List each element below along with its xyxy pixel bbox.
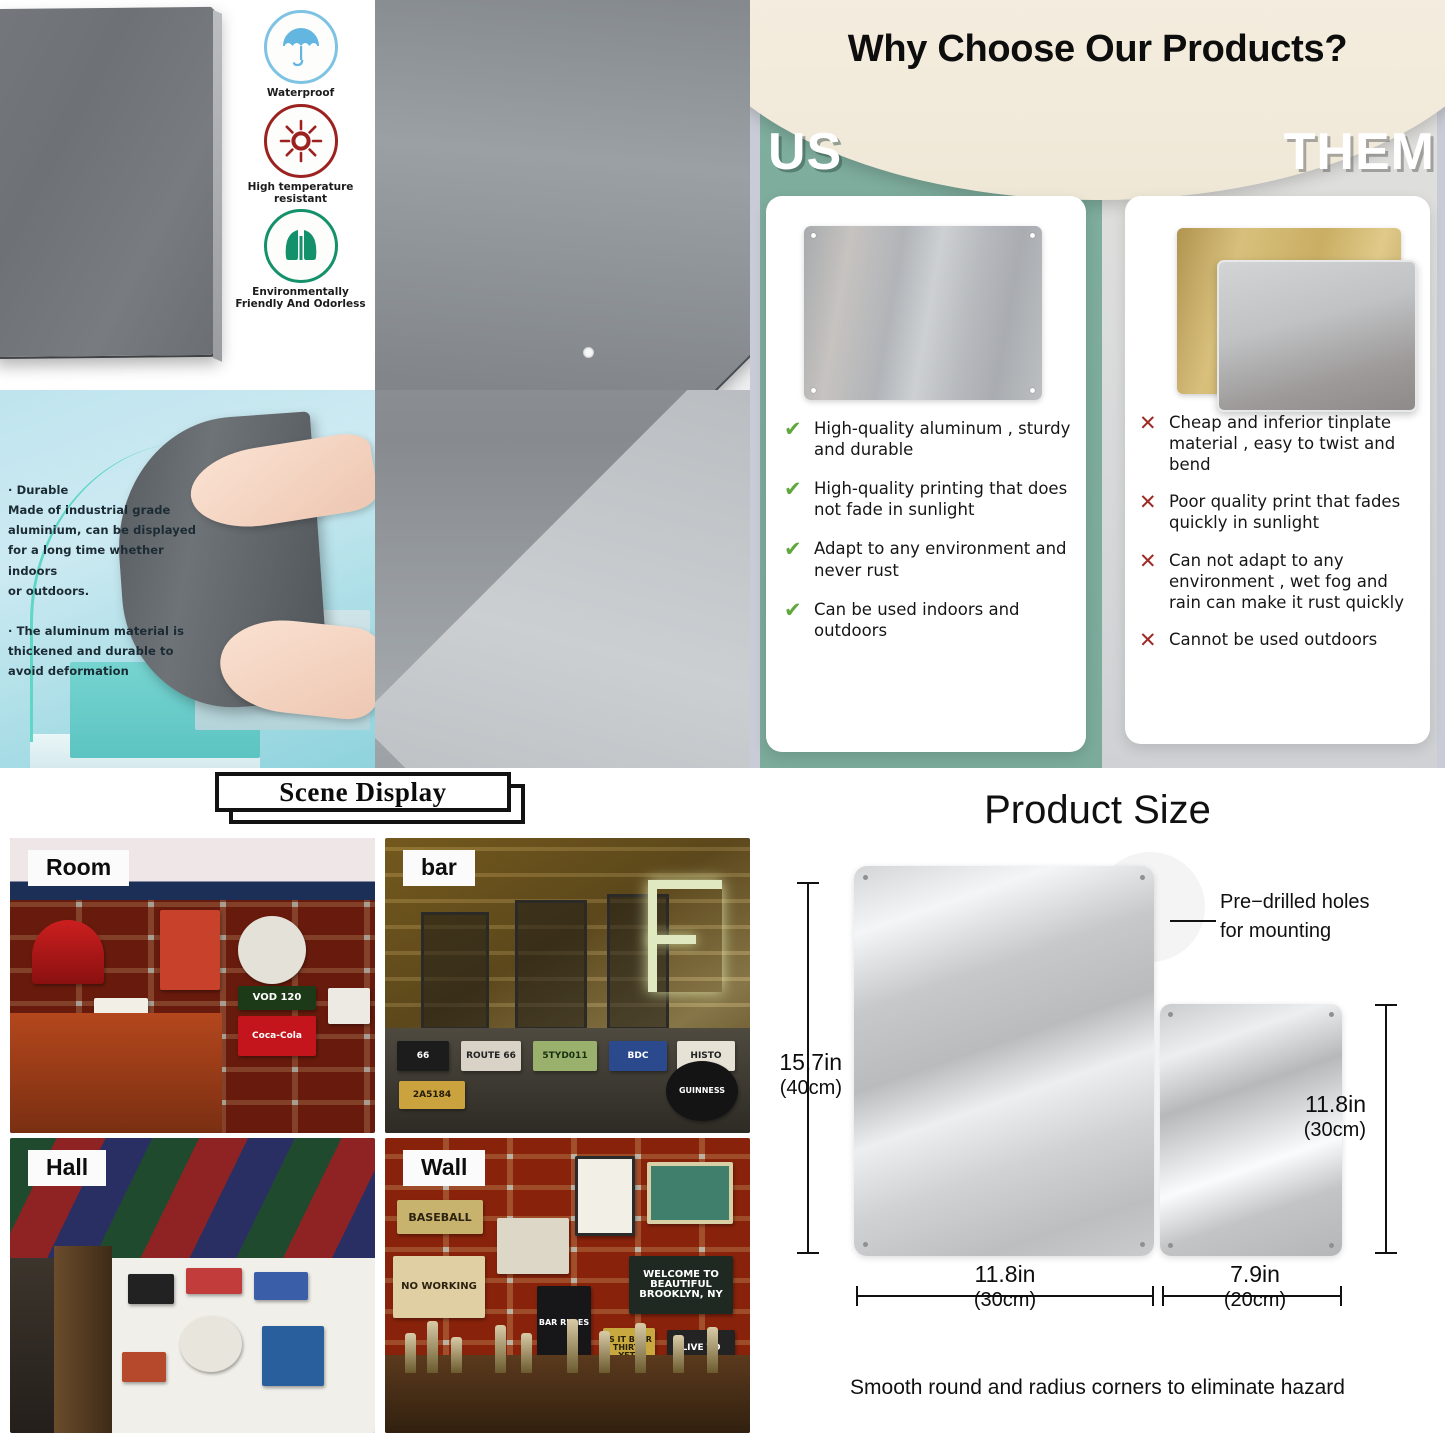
durability-panel: · Durable Made of industrial grade alumi…	[0, 390, 750, 768]
decor-sign	[647, 1162, 733, 1224]
feature-icon-column: Waterproof	[226, 0, 375, 390]
durability-bullet1-body: Made of industrial grade aluminium, can …	[8, 500, 213, 601]
us-point-text: High-quality aluminum , sturdy and durab…	[814, 418, 1074, 460]
decor-sign	[186, 1268, 242, 1294]
decor-sign	[328, 988, 370, 1024]
cross-icon: ✕	[1139, 629, 1169, 651]
room-desk	[10, 1013, 222, 1133]
infographic-page: Waterproof	[0, 0, 1445, 1445]
scene-tag-bar: bar	[403, 850, 475, 886]
sign-bar-rules: BAR RULES	[537, 1286, 591, 1360]
them-silver-plate-image	[1217, 260, 1417, 412]
us-label: US	[768, 122, 842, 182]
sign-guinness: GUINNESS	[666, 1061, 738, 1121]
sign-plate: 66	[397, 1041, 449, 1071]
scene-tag-room: Room	[28, 850, 129, 886]
mounting-hole	[583, 347, 594, 358]
list-item: ✕ Cheap and inferior tinplate material ,…	[1139, 412, 1424, 475]
neon-f-letter	[648, 880, 722, 992]
sign-vod120: VOD 120	[238, 986, 316, 1010]
list-item: ✕ Can not adapt to any environment , wet…	[1139, 550, 1424, 613]
sign-welcome-brooklyn: WELCOME TO BEAUTIFUL BROOKLYN, NY	[629, 1256, 733, 1314]
scene-grid: VOD 120 Coca-Cola Room 66 ROUTE 66 5TYD0…	[10, 838, 745, 1438]
list-item: ✔ High-quality aluminum , sturdy and dur…	[784, 418, 1074, 460]
check-icon: ✔	[784, 599, 814, 621]
durability-bullet1-title: · Durable	[8, 480, 213, 500]
decor-sign	[160, 910, 220, 990]
scene-cell-bar: 66 ROUTE 66 5TYD011 BDC HISTO 2A5184 GUI…	[385, 838, 750, 1133]
decor-sign	[32, 920, 104, 984]
aluminum-plate-image	[0, 7, 213, 357]
check-icon: ✔	[784, 478, 814, 500]
them-card: ✕ Cheap and inferior tinplate material ,…	[1125, 196, 1430, 744]
list-item: ✕ Cannot be used outdoors	[1139, 629, 1424, 651]
feature-high-temperature: High temperature resistant	[231, 104, 371, 206]
right-edge-band	[1437, 0, 1445, 768]
bottle	[405, 1333, 416, 1373]
feature-label: High temperature resistant	[231, 182, 371, 206]
bottle	[707, 1327, 718, 1373]
product-size-panel: Product Size Pre−drilled holes for mount…	[750, 768, 1445, 1445]
scene-display-header: Scene Display	[215, 772, 525, 822]
list-item: ✔ Can be used indoors and outdoors	[784, 599, 1074, 641]
big-height-in: 15.7in	[779, 1049, 842, 1075]
decor-sign	[262, 1326, 324, 1386]
feature-label: Environmentally Friendly And Odorless	[231, 287, 371, 311]
sign-plate: 2A5184	[399, 1081, 465, 1109]
list-item: ✔ Adapt to any environment and never rus…	[784, 538, 1074, 580]
them-point-text: Poor quality print that fades quickly in…	[1169, 491, 1424, 533]
product-features-panel: Waterproof	[0, 0, 750, 390]
scene-cell-wall: BASEBALL NO WORKING BAR RULES WELCOME TO…	[385, 1138, 750, 1433]
bottle	[599, 1331, 610, 1373]
decor-sign	[254, 1272, 308, 1300]
dim-cap	[797, 1252, 819, 1254]
sun-icon	[264, 104, 338, 178]
bottle	[521, 1333, 532, 1373]
sign-plate: ROUTE 66	[461, 1041, 521, 1071]
decor-sign	[238, 916, 306, 984]
aluminum-sheet-image	[375, 0, 750, 390]
scene-display-title: Scene Display	[279, 777, 447, 808]
small-height-cm: (30cm)	[1274, 1118, 1366, 1142]
feature-label: Waterproof	[267, 88, 334, 100]
dim-cap	[1152, 1286, 1154, 1306]
metal-sheet-photo-top	[375, 0, 750, 390]
check-icon: ✔	[784, 418, 814, 440]
small-height-in: 11.8in	[1305, 1091, 1366, 1117]
dim-cap	[1375, 1252, 1397, 1254]
bottle	[635, 1323, 646, 1373]
sign-plate: BDC	[609, 1041, 667, 1071]
bottle	[567, 1319, 578, 1373]
cross-icon: ✕	[1139, 550, 1169, 572]
durability-bullet2: · The aluminum material is thickened and…	[8, 621, 213, 681]
them-point-text: Can not adapt to any environment , wet f…	[1169, 550, 1424, 613]
big-height-label: 15.7in (40cm)	[762, 1048, 842, 1100]
product-size-footer: Smooth round and radius corners to elimi…	[750, 1376, 1445, 1400]
bottle	[427, 1321, 438, 1373]
feature-waterproof: Waterproof	[231, 10, 371, 100]
us-card: ✔ High-quality aluminum , sturdy and dur…	[766, 196, 1086, 752]
small-width-in: 7.9in	[1230, 1261, 1280, 1287]
wine-rack	[515, 900, 587, 1030]
hole-callout-lead-line	[1170, 920, 1216, 922]
bottle	[673, 1335, 684, 1373]
scene-cell-hall: Hall	[10, 1138, 375, 1433]
hands-plant-icon	[264, 209, 338, 283]
list-item: ✔ High-quality printing that does not fa…	[784, 478, 1074, 520]
bottle	[451, 1337, 462, 1373]
scene-cell-room: VOD 120 Coca-Cola Room	[10, 838, 375, 1133]
hall-post	[54, 1246, 112, 1433]
comparison-panel: Why Choose Our Products? US THEM ✔ High-…	[750, 0, 1445, 768]
durability-text: · Durable Made of industrial grade alumi…	[8, 480, 213, 681]
decor-sign	[122, 1352, 166, 1382]
feature-eco-friendly: Environmentally Friendly And Odorless	[231, 209, 371, 311]
small-height-label: 11.8in (30cm)	[1274, 1090, 1366, 1142]
decor-sign	[575, 1156, 635, 1236]
hero-plate-photo: Waterproof	[0, 0, 375, 390]
sign-baseball: BASEBALL	[397, 1200, 483, 1234]
big-height-cm: (40cm)	[762, 1076, 842, 1100]
wine-rack	[421, 912, 489, 1030]
sign-plate: 5TYD011	[533, 1041, 597, 1071]
us-product-image	[804, 226, 1042, 400]
big-board-image	[854, 866, 1154, 1256]
decor-sign	[497, 1218, 569, 1274]
big-width-in: 11.8in	[975, 1261, 1036, 1287]
scene-tag-hall: Hall	[28, 1150, 106, 1186]
us-point-text: Adapt to any environment and never rust	[814, 538, 1074, 580]
pre-drilled-holes-note: Pre−drilled holes for mounting	[1220, 888, 1370, 946]
sign-coca-cola: Coca-Cola	[238, 1016, 316, 1056]
list-item: ✕ Poor quality print that fades quickly …	[1139, 491, 1424, 533]
cross-icon: ✕	[1139, 412, 1169, 434]
dim-line-small-height	[1385, 1004, 1387, 1254]
sign-no-working: NO WORKING	[393, 1256, 485, 1318]
them-point-text: Cannot be used outdoors	[1169, 629, 1377, 650]
umbrella-icon	[264, 10, 338, 84]
small-width-label: 7.9in (20cm)	[1180, 1260, 1330, 1312]
product-size-title: Product Size	[750, 788, 1445, 833]
them-points-list: ✕ Cheap and inferior tinplate material ,…	[1139, 412, 1424, 667]
bend-demo-photo: · Durable Made of industrial grade alumi…	[0, 390, 375, 768]
metal-sheet-photo-bottom	[375, 390, 750, 768]
bottle	[495, 1325, 506, 1373]
small-width-cm: (20cm)	[1180, 1288, 1330, 1312]
cross-icon: ✕	[1139, 491, 1169, 513]
us-point-text: High-quality printing that does not fade…	[814, 478, 1074, 520]
dim-cap	[1340, 1286, 1342, 1306]
comparison-title: Why Choose Our Products?	[750, 28, 1445, 71]
big-width-label: 11.8in (30cm)	[900, 1260, 1110, 1312]
header-box: Scene Display	[215, 772, 511, 812]
scene-tag-wall: Wall	[403, 1150, 485, 1186]
us-point-text: Can be used indoors and outdoors	[814, 599, 1074, 641]
left-edge-band	[750, 0, 760, 768]
them-label: THEM	[1284, 122, 1435, 182]
decor-sign	[180, 1316, 242, 1372]
check-icon: ✔	[784, 538, 814, 560]
decor-sign	[128, 1274, 174, 1304]
them-point-text: Cheap and inferior tinplate material , e…	[1169, 412, 1424, 475]
big-width-cm: (30cm)	[900, 1288, 1110, 1312]
us-points-list: ✔ High-quality aluminum , sturdy and dur…	[784, 418, 1074, 659]
